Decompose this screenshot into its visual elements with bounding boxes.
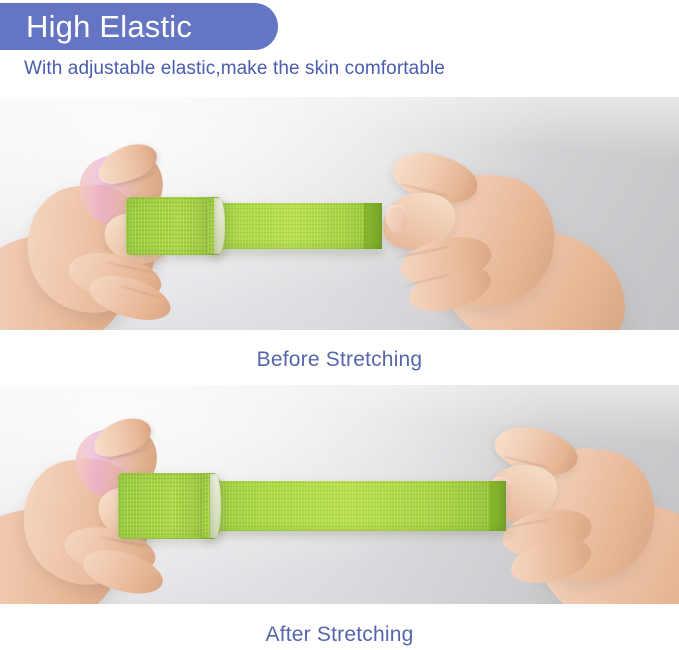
bandage-after: [118, 473, 528, 537]
header: High Elastic With adjustable elastic,mak…: [0, 0, 679, 97]
feature-badge-label: High Elastic: [0, 11, 192, 42]
caption-band-after: After Stretching: [0, 604, 679, 650]
bandage-before: [126, 197, 394, 253]
bandage-strip-end-after: [490, 481, 506, 531]
bandage-roll-core-after: [202, 474, 220, 538]
bandage-roll-core-before: [208, 198, 224, 254]
photo-panel-after: [0, 385, 679, 604]
bandage-roll-face-before: [214, 198, 225, 254]
feature-badge: High Elastic: [0, 3, 278, 50]
caption-band-before: Before Stretching: [0, 330, 679, 385]
caption-after: After Stretching: [0, 604, 679, 645]
bandage-strip-after: [208, 481, 504, 531]
product-feature-image: High Elastic With adjustable elastic,mak…: [0, 0, 679, 650]
bandage-strip-end-before: [364, 203, 382, 249]
bandage-roll-face-after: [210, 474, 221, 538]
feature-subtitle: With adjustable elastic,make the skin co…: [24, 57, 445, 81]
photo-panel-before: [0, 97, 679, 330]
caption-before: Before Stretching: [0, 330, 679, 370]
bandage-strip-before: [212, 203, 380, 249]
